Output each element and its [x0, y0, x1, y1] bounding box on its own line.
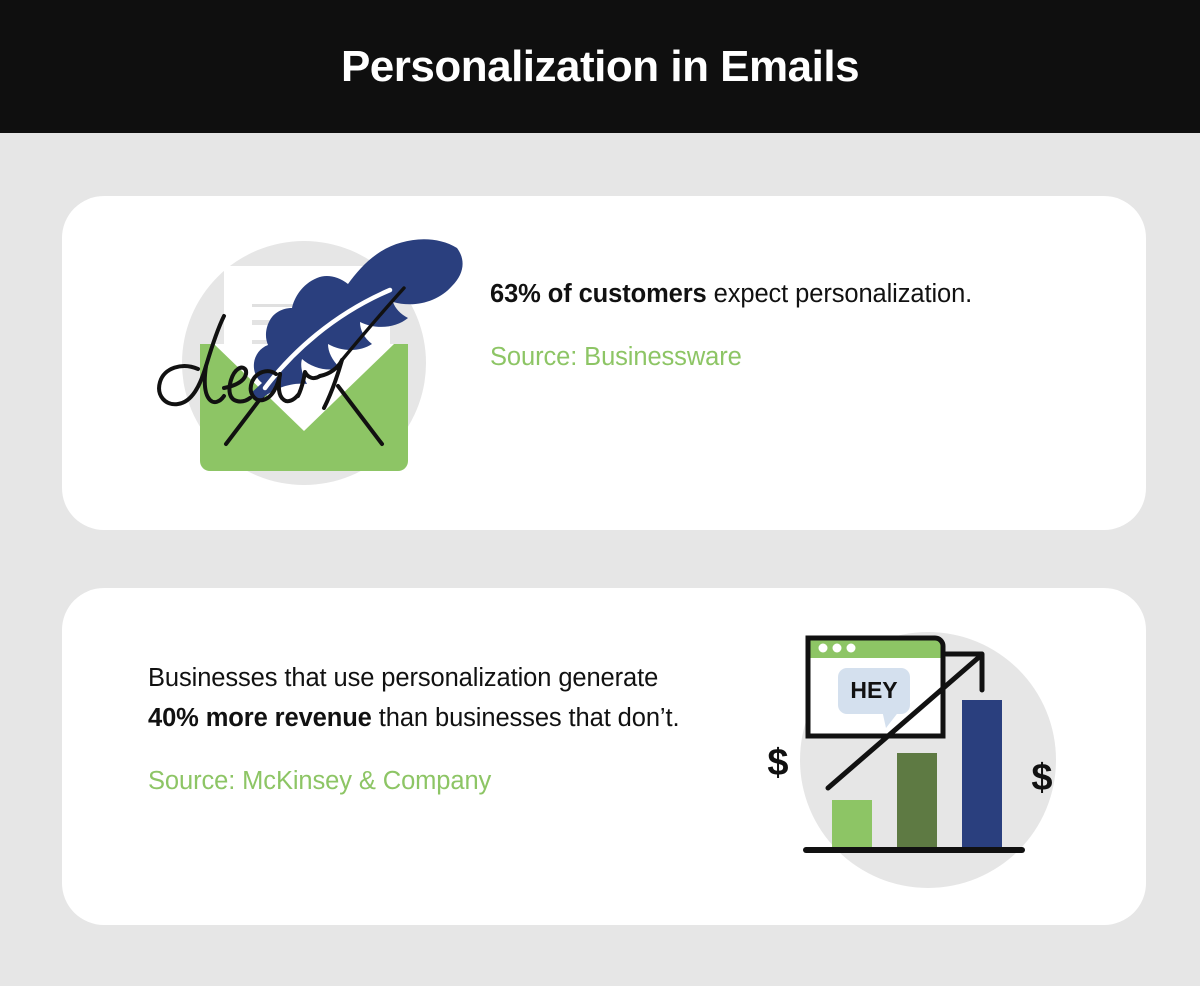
- browser-dot-3: [847, 644, 856, 653]
- bar-high: [962, 700, 1002, 848]
- card-2-text-column: Businesses that use personalization gene…: [148, 658, 708, 798]
- infographic-canvas: Personalization in Emails: [0, 0, 1200, 986]
- bar-low: [832, 800, 872, 848]
- stat-suffix-2: than businesses that don’t.: [372, 704, 680, 732]
- stat-card-personalization-expectation: 63% of customers expect personalization.…: [62, 196, 1146, 530]
- page-title: Personalization in Emails: [341, 45, 859, 89]
- card-1-text-column: 63% of customers expect personalization.…: [490, 274, 1030, 374]
- envelope-quill-illustration: [152, 216, 482, 510]
- stat-line-1: 63% of customers expect personalization.: [490, 274, 1030, 314]
- dollar-sign-right: $: [1031, 757, 1052, 799]
- browser-window: HEY: [808, 638, 943, 736]
- source-label-2: Source: McKinsey & Company: [148, 764, 708, 798]
- browser-dot-1: [819, 644, 828, 653]
- dollar-sign-left: $: [767, 742, 788, 784]
- stat-rest-1: expect personalization.: [707, 280, 973, 308]
- browser-title-bar: [808, 638, 943, 658]
- stat-line-2: Businesses that use personalization gene…: [148, 658, 708, 738]
- stat-prefix-2: Businesses that use personalization gene…: [148, 664, 658, 692]
- header-bar: Personalization in Emails: [0, 0, 1200, 133]
- speech-bubble-text: HEY: [850, 677, 897, 703]
- source-label-1: Source: Businessware: [490, 340, 1030, 374]
- stat-highlight-1: 63% of customers: [490, 280, 707, 308]
- growth-chart-illustration: HEY $ $: [750, 610, 1080, 904]
- browser-dot-2: [833, 644, 842, 653]
- bar-medium: [897, 753, 937, 848]
- stat-highlight-2: 40% more revenue: [148, 704, 372, 732]
- stat-card-revenue-growth: Businesses that use personalization gene…: [62, 588, 1146, 925]
